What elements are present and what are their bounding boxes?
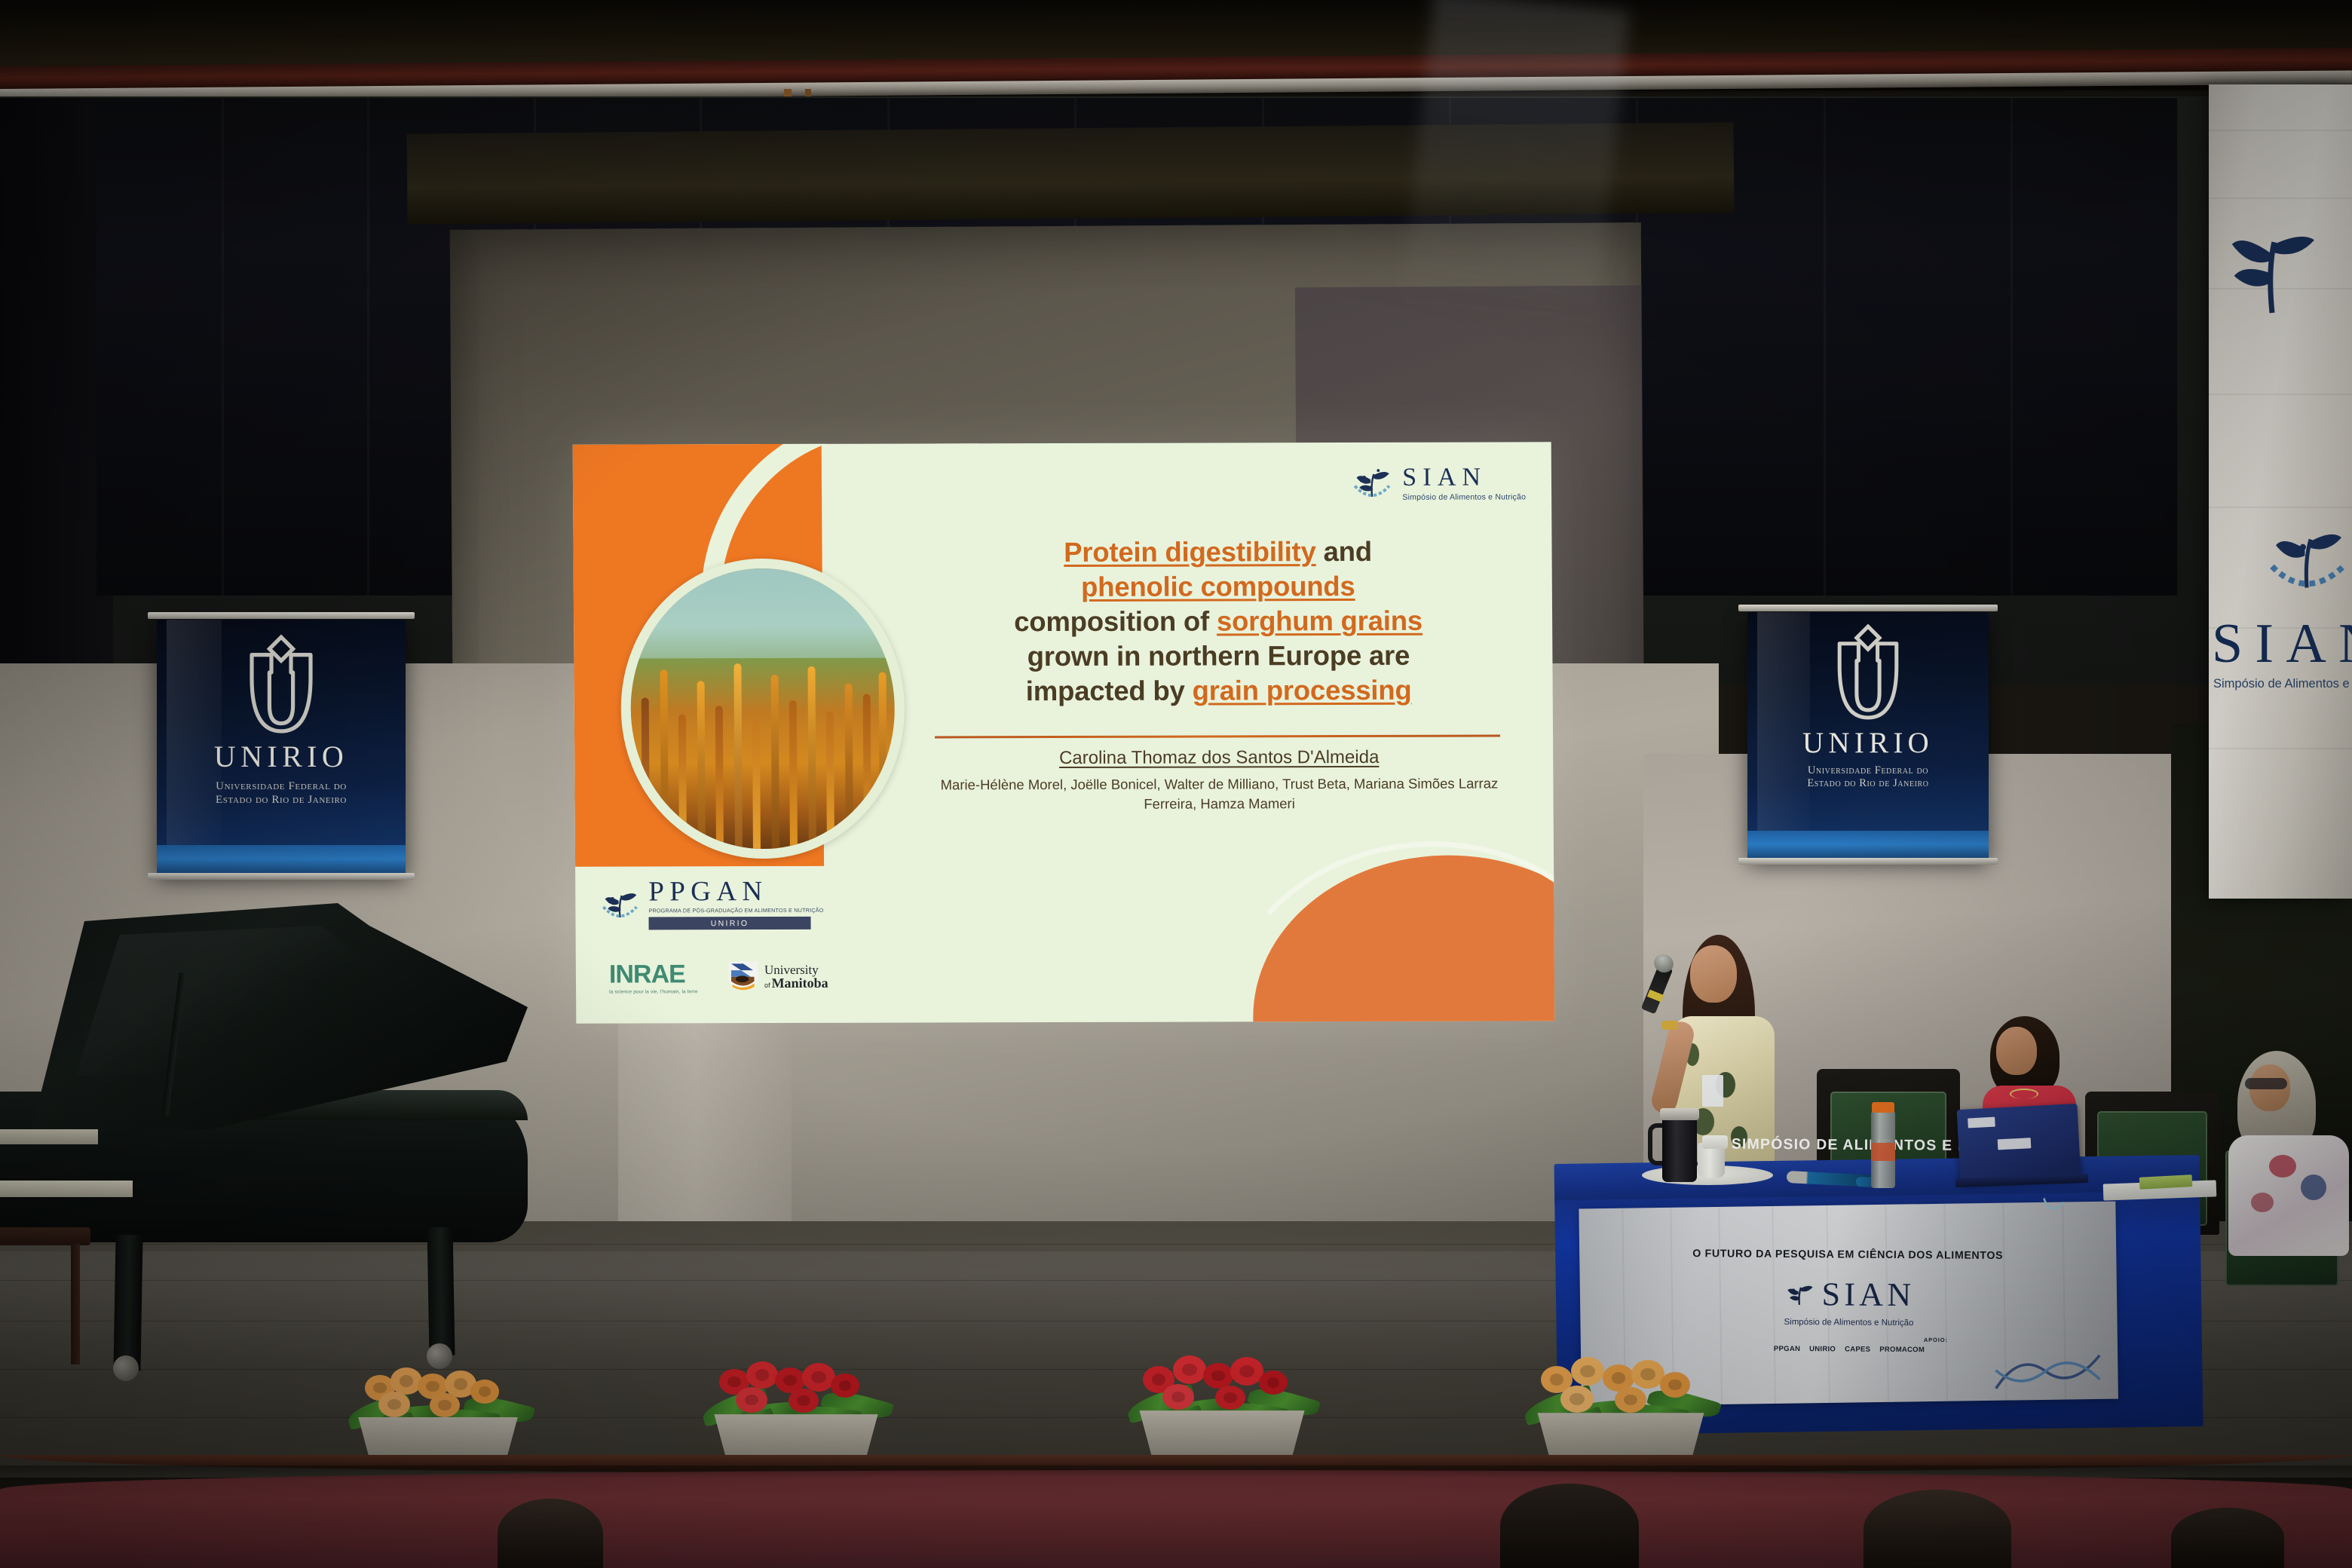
banner-rail xyxy=(1738,858,1998,865)
slide-inrae-word: INRAE xyxy=(609,961,698,987)
table-banner-sian-word: SIAN xyxy=(1821,1279,1915,1311)
manitoba-shield-icon xyxy=(727,958,760,994)
banner-rail xyxy=(1738,605,1998,611)
leaf-branch-icon xyxy=(2219,213,2325,318)
slide-title-line: composition of sorghum grains xyxy=(917,603,1520,639)
auditorium-scene: UNIRIO Universidade Federal do Estado do… xyxy=(0,0,2352,1568)
table-banner-support-label: APOIO: xyxy=(1924,1337,1948,1343)
slide-ppgan-logo: PPGAN PROGRAMA DE PÓS-GRADUAÇÃO EM ALIME… xyxy=(598,878,810,930)
piano-bench xyxy=(0,1227,90,1370)
audience-silhouette xyxy=(1500,1484,1639,1568)
red-gerbera-planter xyxy=(707,1352,885,1467)
sponsor-capes: CAPES xyxy=(1845,1346,1870,1354)
red-gerbera-planter xyxy=(1132,1348,1312,1464)
stage-apron-shadow xyxy=(0,1465,2352,1496)
slide-ppgan-tagline: PROGRAMA DE PÓS-GRADUAÇÃO EM ALIMENTOS E… xyxy=(648,907,810,914)
piano-keyboard xyxy=(0,1181,133,1197)
slide-sian-tagline: Simpósio de Alimentos e Nutrição xyxy=(1402,492,1526,501)
slide-title-text: impacted by xyxy=(1026,675,1193,706)
slide-sian-logo: SIAN Simpósio de Alimentos e Nutrição xyxy=(1349,460,1526,506)
eyeglasses-icon xyxy=(2245,1078,2287,1089)
table-banner-subtitle: O FUTURO DA PESQUISA EM CIÊNCIA DOS ALIM… xyxy=(1579,1247,2116,1263)
slide-title-text: grown in northern Europe are xyxy=(1027,640,1410,672)
sponsor-ppgan: PPGAN xyxy=(1774,1345,1800,1353)
banner-sian-right: SIAN Simpósio de Alimentos e xyxy=(2209,84,2352,899)
wristwatch xyxy=(1661,1021,1678,1030)
sorghum-field-photo xyxy=(620,559,905,859)
banner-unirio-left-sub1: Universidade Federal do xyxy=(216,779,347,793)
proscenium-header xyxy=(407,122,1735,224)
slide-corner-curve-stripe xyxy=(1207,821,1554,1023)
banner-unirio-left: UNIRIO Universidade Federal do Estado do… xyxy=(157,620,406,876)
sponsor-unirio: UNIRIO xyxy=(1809,1345,1836,1353)
audience-silhouette xyxy=(2171,1508,2284,1568)
slide-ppgan-word: PPGAN xyxy=(648,878,810,905)
ppgan-emblem-icon xyxy=(598,881,642,928)
slide-inrae-logo: INRAE la science pour la vie, l'humain, … xyxy=(609,961,698,994)
banner-unirio-right-sub1: Universidade Federal do xyxy=(1808,764,1928,777)
orange-gerbera-planter xyxy=(1530,1349,1711,1467)
table-banner-sian-tagline: Simpósio de Alimentos e Nutrição xyxy=(1580,1316,2117,1329)
presenter-head xyxy=(1690,945,1737,1003)
unirio-emblem-icon xyxy=(1821,623,1916,724)
banner-unirio-left-sub2: Estado do Rio de Janeiro xyxy=(216,793,347,807)
sian-emblem-icon xyxy=(1781,1277,1816,1312)
banner-unirio-right: UNIRIO Universidade Federal do Estado do… xyxy=(1747,612,1989,861)
slide-title-text: and xyxy=(1316,536,1372,567)
slide-title-highlight: phenolic compounds xyxy=(1081,571,1355,602)
seated-panelist-2 xyxy=(2228,1051,2352,1254)
table-banner-sian-logo: SIAN xyxy=(1580,1276,2117,1314)
banner-sian-tagline: Simpósio de Alimentos e xyxy=(2213,677,2350,691)
slide-title-highlight: sorghum grains xyxy=(1217,605,1423,637)
slide-coauthor-list: Marie-Hélène Morel, Joëlle Bonicel, Walt… xyxy=(929,773,1509,815)
slide-presenter-name: Carolina Thomaz dos Santos D'Almeida xyxy=(917,746,1521,769)
dna-helix-icon xyxy=(1991,1346,2105,1396)
banner-unirio-right-sub2: Estado do Rio de Janeiro xyxy=(1807,777,1928,790)
audience-silhouette xyxy=(1864,1490,2011,1568)
piano-keyboard-far xyxy=(0,1129,98,1144)
sian-emblem-icon xyxy=(1349,461,1395,506)
slide-title-text: composition of xyxy=(1014,605,1217,637)
slide-title-highlight: Protein digestibility xyxy=(1064,536,1316,568)
title-divider xyxy=(935,734,1500,738)
slide-ppgan-band: UNIRIO xyxy=(648,917,810,930)
slide-manitoba-word2: Manitoba xyxy=(771,975,828,989)
banner-rail xyxy=(148,612,415,619)
paper-cup xyxy=(1702,1135,1728,1149)
unirio-emblem-icon xyxy=(232,633,330,737)
slide-manitoba-logo: University of Manitoba xyxy=(727,958,828,994)
banner-unirio-right-name: UNIRIO xyxy=(1802,728,1934,758)
name-badge xyxy=(1702,1075,1723,1107)
sian-emblem-icon xyxy=(2259,507,2352,603)
sponsor-promacom: PROMACOM xyxy=(1879,1346,1925,1354)
slide-title: Protein digestibility andphenolic compou… xyxy=(916,534,1520,709)
slide-manitoba-of: of xyxy=(764,982,770,989)
tumbler-lid xyxy=(1660,1108,1699,1120)
bottle-cap xyxy=(1872,1102,1894,1113)
slide-sian-word: SIAN xyxy=(1402,464,1526,490)
slide-inrae-tagline: la science pour la vie, l'humain, la ter… xyxy=(609,989,698,994)
audience-silhouette xyxy=(498,1499,603,1568)
banner-unirio-left-name: UNIRIO xyxy=(214,742,348,772)
banner-rail xyxy=(148,873,415,880)
grand-piano xyxy=(0,903,558,1355)
slide-manitoba-word1: University xyxy=(764,963,828,975)
banner-sian-word: SIAN xyxy=(2212,612,2352,676)
slide-title-line: phenolic compounds xyxy=(917,568,1520,605)
slide-title-line: Protein digestibility and xyxy=(916,534,1519,570)
slide-title-highlight: grain processing xyxy=(1192,675,1411,706)
orange-gerbera-planter xyxy=(351,1357,525,1468)
coffee-tumbler xyxy=(1662,1116,1697,1182)
projected-slide: SIAN Simpósio de Alimentos e Nutrição Pr… xyxy=(573,442,1555,1023)
bottle-label xyxy=(1871,1143,1895,1161)
slide-title-line: impacted by grain processing xyxy=(917,672,1521,709)
slide-title-line: grown in northern Europe are xyxy=(917,638,1520,674)
